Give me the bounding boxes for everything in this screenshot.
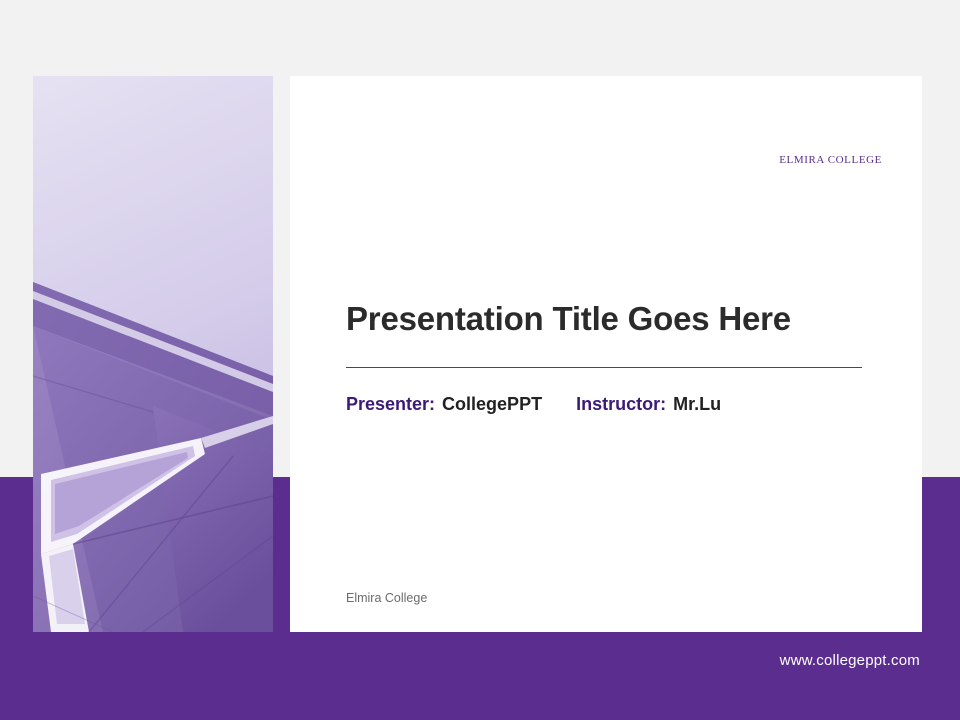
slide-content-card: ELMIRA COLLEGE Presentation Title Goes H… [290,76,922,632]
presentation-slide: ELMIRA COLLEGE Presentation Title Goes H… [0,0,960,720]
presentation-meta: Presenter: CollegePPT Instructor: Mr.Lu [346,394,721,415]
title-divider [346,367,862,368]
presenter-value: CollegePPT [442,394,542,415]
instructor-value: Mr.Lu [673,394,721,415]
college-wordmark: ELMIRA COLLEGE [779,154,882,166]
abstract-architecture-photo [33,76,273,632]
page-title: Presentation Title Goes Here [346,301,876,337]
presenter-label: Presenter: [346,394,435,415]
slide-footer-note: Elmira College [346,591,427,605]
instructor-label: Instructor: [576,394,666,415]
website-url: www.collegeppt.com [780,652,920,669]
